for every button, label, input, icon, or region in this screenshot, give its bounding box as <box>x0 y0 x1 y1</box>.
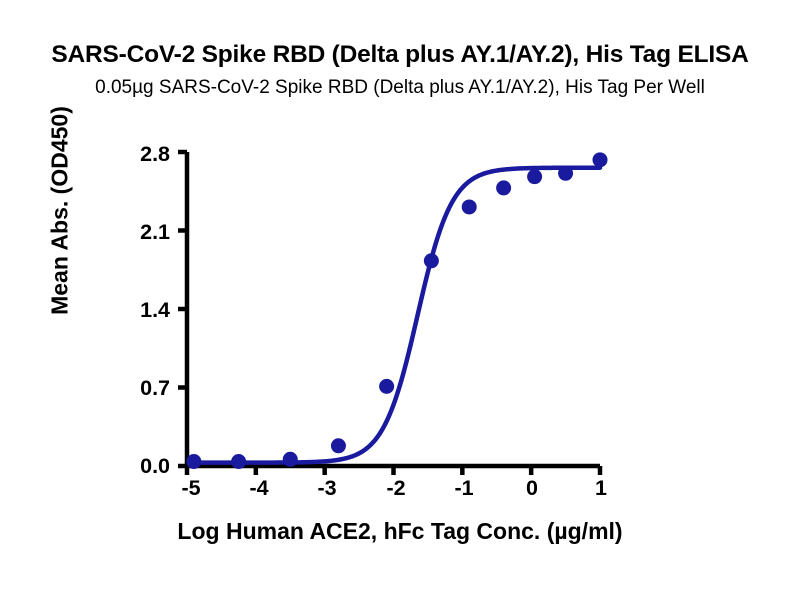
data-point <box>186 454 201 469</box>
data-point <box>496 180 511 195</box>
data-point <box>558 166 573 181</box>
data-point <box>462 199 477 214</box>
data-point <box>424 253 439 268</box>
data-point <box>331 438 346 453</box>
fit-curve-line <box>194 168 600 463</box>
data-point <box>593 152 608 167</box>
data-point <box>527 169 542 184</box>
data-point <box>379 379 394 394</box>
axes-group <box>187 152 600 466</box>
plot-area <box>0 0 800 600</box>
data-point <box>283 452 298 467</box>
data-point-markers <box>186 152 607 469</box>
chart-figure: SARS-CoV-2 Spike RBD (Delta plus AY.1/AY… <box>0 0 800 600</box>
data-point <box>231 454 246 469</box>
